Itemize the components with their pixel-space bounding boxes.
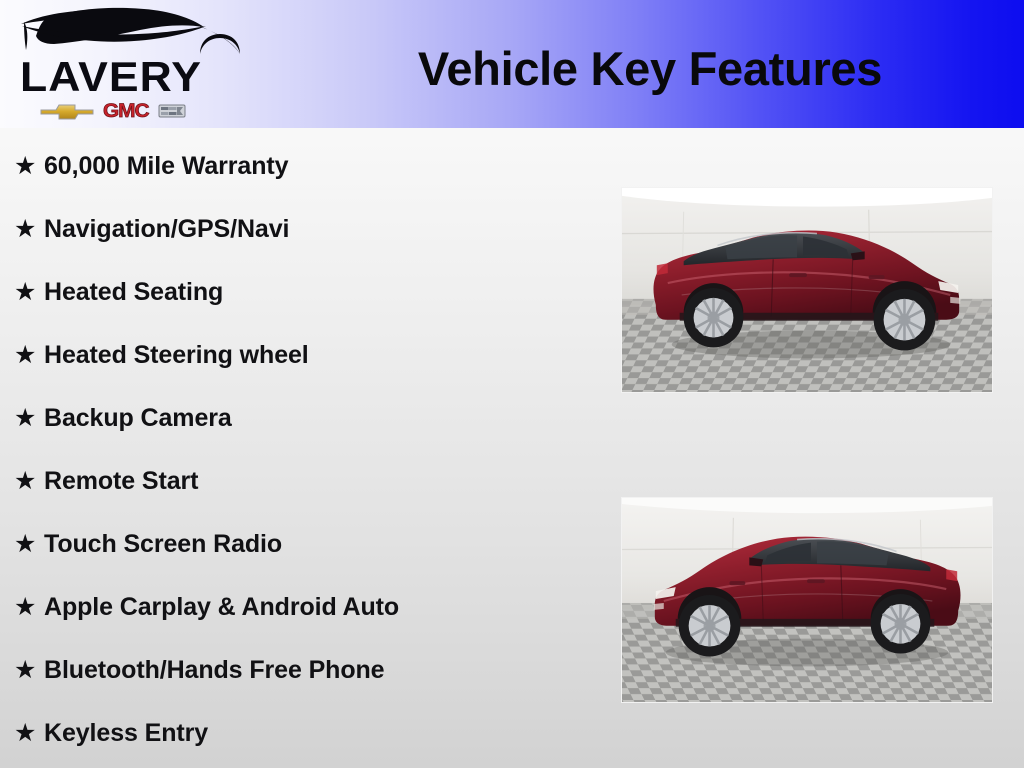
- list-item: ★ 60,000 Mile Warranty: [0, 135, 600, 198]
- vehicle-photo-driver-side[interactable]: [621, 497, 993, 703]
- list-item: ★ Heated Seating: [0, 261, 600, 324]
- star-icon: ★: [14, 343, 44, 368]
- list-item: ★ Touch Screen Radio: [0, 513, 600, 576]
- brand-logos: GMC: [40, 98, 240, 124]
- list-item: ★ Apple Carplay & Android Auto: [0, 576, 600, 639]
- star-icon: ★: [14, 217, 44, 242]
- vehicle-photo-2-image: [622, 498, 992, 702]
- dealer-name: LAVERY: [20, 56, 274, 98]
- list-item: ★ Remote Start: [0, 450, 600, 513]
- vehicle-photo-1-image: [622, 188, 992, 392]
- feature-list: ★ 60,000 Mile Warranty ★ Navigation/GPS/…: [0, 135, 600, 760]
- chevrolet-bowtie-icon: [40, 101, 94, 121]
- list-item: ★ Keyless Entry: [0, 702, 600, 765]
- page-title: Vehicle Key Features: [330, 40, 970, 98]
- feature-label: Touch Screen Radio: [44, 530, 282, 559]
- feature-label: Navigation/GPS/Navi: [44, 215, 289, 244]
- feature-label: 60,000 Mile Warranty: [44, 152, 288, 181]
- star-icon: ★: [14, 280, 44, 305]
- list-item: ★ Bluetooth/Hands Free Phone: [0, 639, 600, 702]
- feature-label: Bluetooth/Hands Free Phone: [44, 656, 384, 685]
- vehicle-photo-passenger-side[interactable]: [621, 187, 993, 393]
- star-icon: ★: [14, 595, 44, 620]
- feature-label: Heated Seating: [44, 278, 223, 307]
- list-item: ★ Backup Camera: [0, 387, 600, 450]
- star-icon: ★: [14, 721, 44, 746]
- feature-label: Backup Camera: [44, 404, 232, 433]
- list-item: ★ Heated Steering wheel: [0, 324, 600, 387]
- dealer-logo[interactable]: LAVERY GMC: [14, 6, 259, 124]
- list-item: ★ Navigation/GPS/Navi: [0, 198, 600, 261]
- star-icon: ★: [14, 469, 44, 494]
- feature-label: Heated Steering wheel: [44, 341, 309, 370]
- star-icon: ★: [14, 658, 44, 683]
- gmc-logo: GMC: [103, 102, 148, 121]
- star-icon: ★: [14, 532, 44, 557]
- star-icon: ★: [14, 406, 44, 431]
- star-icon: ★: [14, 154, 44, 179]
- feature-label: Apple Carplay & Android Auto: [44, 593, 399, 622]
- feature-label: Remote Start: [44, 467, 198, 496]
- page-header: LAVERY GMC: [0, 0, 1024, 128]
- cadillac-crest-icon: [157, 101, 187, 121]
- feature-label: Keyless Entry: [44, 719, 208, 748]
